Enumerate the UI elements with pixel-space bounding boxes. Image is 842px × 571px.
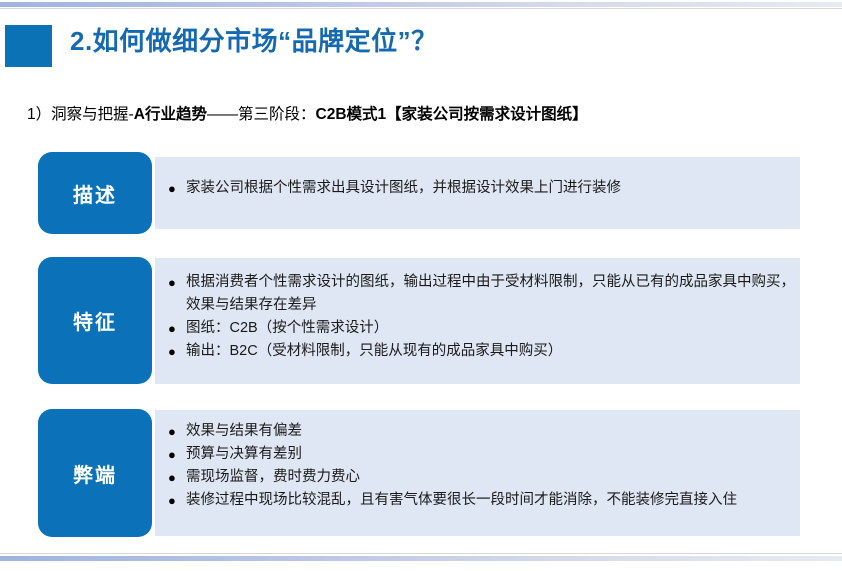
bullet-icon: ● xyxy=(168,317,186,340)
list-item: ● 图纸：C2B（按个性需求设计） xyxy=(168,317,800,340)
page-title: 2.如何做细分市场“品牌定位”？ xyxy=(70,21,438,58)
subtitle-bold-industry: A行业趋势 xyxy=(134,106,207,123)
list-item-text: 装修过程中现场比较混乱，且有害气体要很长一段时间才能消除，不能装修完直接入住 xyxy=(186,489,800,512)
slide-title-row: 2.如何做细分市场“品牌定位”？ xyxy=(0,25,842,75)
bottom-divider xyxy=(0,553,842,554)
section-tag-description: 描述 xyxy=(38,152,152,234)
list-item-text: 家装公司根据个性需求出具设计图纸，并根据设计效果上门进行装修 xyxy=(186,177,800,200)
slide-canvas: 2.如何做细分市场“品牌定位”？ 1）洞察与把握-A行业趋势——第三阶段：C2B… xyxy=(0,9,842,553)
bullet-icon: ● xyxy=(168,177,186,200)
list-item: ● 家装公司根据个性需求出具设计图纸，并根据设计效果上门进行装修 xyxy=(168,177,800,200)
list-item: ● 需现场监督，费时费力费心 xyxy=(168,466,800,489)
subtitle-line: 1）洞察与把握-A行业趋势——第三阶段：C2B模式1【家装公司按需求设计图纸】 xyxy=(27,102,588,124)
list-item-text: 输出：B2C（受材料限制，只能从现有的成品家具中购买） xyxy=(186,340,800,363)
bullet-icon: ● xyxy=(168,420,186,443)
list-item: ● 预算与决算有差别 xyxy=(168,443,800,466)
subtitle-prefix: 1）洞察与把握- xyxy=(27,106,134,123)
subtitle-bold-model: C2B模式1【家装公司按需求设计图纸】 xyxy=(316,106,588,123)
bullet-icon: ● xyxy=(168,466,186,489)
top-gradient-bar xyxy=(0,2,842,7)
list-item-text: 预算与决算有差别 xyxy=(186,443,800,466)
list-item-text: 需现场监督，费时费力费心 xyxy=(186,466,800,489)
bullet-icon: ● xyxy=(168,271,186,294)
list-item: ● 输出：B2C（受材料限制，只能从现有的成品家具中购买） xyxy=(168,340,800,363)
section-tag-features: 特征 xyxy=(38,257,152,384)
section-tag-drawbacks: 弊端 xyxy=(38,409,152,537)
bullet-list-description: ● 家装公司根据个性需求出具设计图纸，并根据设计效果上门进行装修 xyxy=(168,177,800,200)
list-item: ● 效果与结果有偏差 xyxy=(168,420,800,443)
subtitle-middle: ——第三阶段： xyxy=(207,106,316,123)
bullet-icon: ● xyxy=(168,340,186,363)
bottom-gradient-bar xyxy=(0,556,842,561)
list-item-text: 图纸：C2B（按个性需求设计） xyxy=(186,317,800,340)
bullet-list-drawbacks: ● 效果与结果有偏差 ● 预算与决算有差别 ● 需现场监督，费时费力费心 ● 装… xyxy=(168,420,800,512)
list-item-text: 效果与结果有偏差 xyxy=(186,420,800,443)
title-accent-square xyxy=(5,25,52,67)
bullet-icon: ● xyxy=(168,489,186,512)
list-item: ● 根据消费者个性需求设计的图纸，输出过程中由于受材料限制，只能从已有的成品家具… xyxy=(168,271,800,317)
list-item: ● 装修过程中现场比较混乱，且有害气体要很长一段时间才能消除，不能装修完直接入住 xyxy=(168,489,800,512)
list-item-text: 根据消费者个性需求设计的图纸，输出过程中由于受材料限制，只能从已有的成品家具中购… xyxy=(186,271,800,317)
bullet-list-features: ● 根据消费者个性需求设计的图纸，输出过程中由于受材料限制，只能从已有的成品家具… xyxy=(168,271,800,363)
bullet-icon: ● xyxy=(168,443,186,466)
